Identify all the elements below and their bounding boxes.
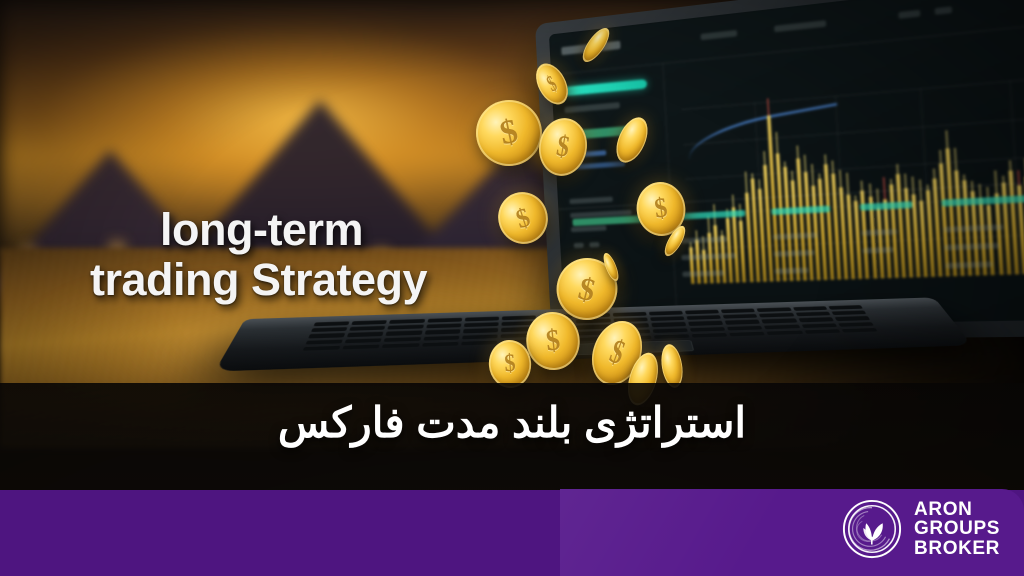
candle-wick bbox=[832, 161, 834, 175]
keyboard-key bbox=[303, 345, 341, 351]
keyboard-key bbox=[686, 315, 721, 320]
keyboard-key bbox=[306, 339, 344, 345]
keyboard-key bbox=[798, 317, 834, 322]
keyboard-key bbox=[502, 315, 536, 320]
brand-wordmark: ARON GROUPS BROKER bbox=[914, 500, 1000, 558]
keyboard-key bbox=[424, 329, 460, 334]
keyboard-key bbox=[426, 323, 461, 328]
candle-wick bbox=[784, 161, 785, 166]
keyboard-key bbox=[384, 336, 421, 341]
keyboard-key bbox=[308, 333, 345, 338]
keyboard-key bbox=[651, 322, 686, 327]
keyboard-key bbox=[834, 316, 870, 321]
brand-line-1: ARON bbox=[914, 500, 1000, 519]
keyboard-key bbox=[690, 326, 726, 331]
keyboard-key bbox=[462, 334, 498, 339]
candle-wick bbox=[819, 173, 820, 179]
keyboard-key bbox=[311, 327, 348, 332]
keyboard-key bbox=[386, 330, 422, 335]
keyboard-key bbox=[841, 327, 878, 332]
keyboard-key bbox=[685, 310, 719, 315]
keyboard-key bbox=[688, 321, 723, 326]
keyboard-key bbox=[422, 341, 459, 347]
candle-wick bbox=[1009, 160, 1011, 170]
keyboard-key bbox=[723, 314, 758, 319]
keyboard-key bbox=[345, 338, 382, 344]
keyboard-key bbox=[382, 342, 419, 348]
candle-wick bbox=[1002, 176, 1004, 182]
keyboard-key bbox=[757, 307, 792, 312]
subheadline-persian: استراتژی بلند مدت فارکس bbox=[0, 398, 1024, 447]
keyboard-key bbox=[612, 312, 646, 317]
candle-wick bbox=[940, 150, 942, 164]
headline-line-1: long-term bbox=[160, 204, 363, 255]
keyboard-key bbox=[831, 310, 866, 315]
keyboard-key bbox=[313, 321, 349, 326]
keyboard-key bbox=[828, 305, 863, 310]
keyboard-key bbox=[649, 311, 683, 316]
candle-wick bbox=[904, 174, 906, 188]
aron-swirl-leaf-icon bbox=[841, 498, 903, 560]
promotional-banner: $$$$$$$$$ long-term trading Strategy است… bbox=[0, 0, 1024, 576]
laptop-screen bbox=[549, 0, 1024, 328]
keyboard-key bbox=[389, 319, 424, 324]
candle-wick bbox=[847, 173, 849, 195]
candle-wick bbox=[861, 180, 863, 190]
keyboard-key bbox=[463, 328, 498, 333]
candle-wick bbox=[825, 154, 827, 164]
keyboard-key bbox=[349, 326, 385, 331]
page-title: long-term trading Strategy bbox=[160, 205, 590, 306]
keyboard-key bbox=[721, 308, 756, 313]
keyboard-key bbox=[795, 312, 830, 317]
keyboard-key bbox=[764, 324, 800, 329]
keyboard-key bbox=[838, 322, 874, 327]
keyboard-key bbox=[388, 325, 424, 330]
keyboard-key bbox=[793, 306, 828, 311]
candle-wick bbox=[751, 174, 752, 179]
keyboard-key bbox=[461, 340, 497, 346]
candle-wick bbox=[933, 169, 935, 179]
keyboard-key bbox=[729, 331, 765, 336]
keyboard-key bbox=[427, 318, 462, 323]
keyboard-key bbox=[347, 332, 384, 337]
keyboard-key bbox=[465, 316, 500, 321]
brand-line-3: BROKER bbox=[914, 539, 1000, 558]
keyboard-key bbox=[725, 319, 760, 324]
candle-wick bbox=[840, 170, 842, 188]
keyboard-key bbox=[650, 316, 685, 321]
keyboard-key bbox=[351, 320, 387, 325]
brand-logo[interactable]: ARON GROUPS BROKER bbox=[841, 498, 1000, 560]
trading-dashboard bbox=[549, 0, 1024, 328]
candle-wick bbox=[811, 164, 813, 186]
keyboard-key bbox=[727, 325, 763, 330]
headline-line-2: trading Strategy bbox=[90, 255, 590, 305]
keyboard-key bbox=[801, 323, 837, 328]
keyboard-key bbox=[343, 344, 381, 350]
candle-wick bbox=[964, 175, 966, 181]
keyboard-key bbox=[654, 333, 690, 338]
candlestick-series bbox=[682, 64, 1024, 109]
candle-wick bbox=[890, 179, 892, 185]
keyboard-key bbox=[691, 332, 727, 337]
keyboard-key bbox=[464, 322, 499, 327]
keyboard-key bbox=[762, 318, 797, 323]
brand-line-2: GROUPS bbox=[914, 519, 1000, 538]
keyboard-key bbox=[759, 313, 794, 318]
keyboard-key bbox=[767, 330, 803, 335]
keyboard-key bbox=[804, 328, 840, 333]
candle-wick bbox=[954, 148, 957, 170]
keyboard-key bbox=[652, 328, 687, 333]
candle-wick bbox=[946, 131, 948, 149]
keyboard-key bbox=[423, 335, 459, 340]
